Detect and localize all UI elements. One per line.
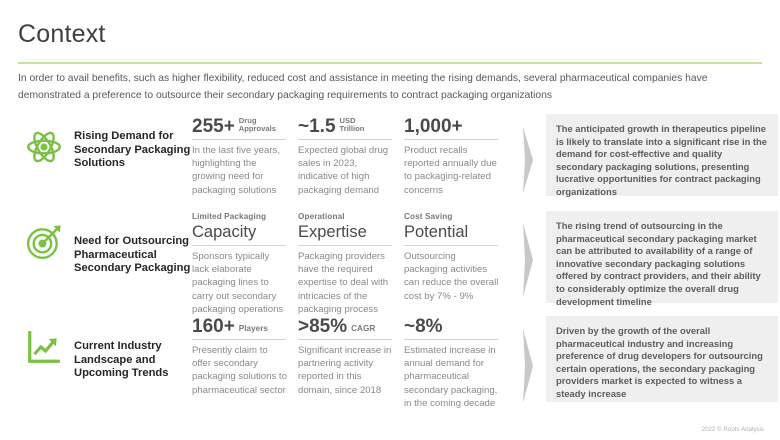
stat-divider [192, 139, 286, 140]
slide-canvas: Context In order to avail benefits, such… [0, 0, 780, 440]
content-row: Rising Demand for Secondary Packaging So… [0, 112, 780, 207]
conclusion-box: Driven by the growth of the overall phar… [546, 316, 778, 402]
stat-card: 160+ Players Presently claim to offer se… [192, 316, 298, 410]
stat-value: 255+ [192, 116, 235, 137]
stat-divider [192, 245, 286, 246]
stat-divider [192, 339, 286, 340]
row-heading: Rising Demand for Secondary Packaging So… [70, 112, 192, 171]
stat-kicker: Operational [298, 211, 394, 222]
chevron-right-icon [510, 312, 546, 420]
stats-group: 160+ Players Presently claim to offer se… [192, 312, 510, 410]
stat-card: ~1.5 USD Trillion Expected global drug s… [298, 116, 404, 197]
content-rows: Rising Demand for Secondary Packaging So… [0, 112, 780, 420]
stat-card: ~8% Estimated increase in annual demand … [404, 316, 510, 410]
stat-body: Significant increase in partnering activ… [298, 344, 394, 397]
atom-icon [18, 112, 70, 166]
row-heading: Need for Outsourcing Pharmaceutical Seco… [70, 207, 192, 276]
stat-head: 255+ Drug Approvals [192, 116, 288, 139]
stat-value: Capacity [192, 222, 256, 243]
stat-unit: Drug Approvals [239, 117, 276, 137]
stat-head: >85% CAGR [298, 316, 394, 339]
stat-divider [404, 339, 498, 340]
stats-group: 255+ Drug Approvals In the last five yea… [192, 112, 510, 197]
title-divider [18, 62, 762, 64]
stat-unit: CAGR [351, 325, 375, 337]
stat-body: Product recalls reported annually due to… [404, 144, 500, 197]
stat-unit: Players [239, 325, 268, 337]
row-heading: Current Industry Landscape and Upcoming … [70, 312, 192, 381]
stat-value: ~8% [404, 316, 443, 337]
stat-value: ~1.5 [298, 116, 336, 137]
conclusion-box: The rising trend of outsourcing in the p… [546, 211, 778, 303]
growth-chart-icon [18, 312, 70, 366]
stat-unit: USD Trillion [340, 117, 365, 137]
stat-head: Expertise [298, 222, 394, 245]
stat-value: Potential [404, 222, 468, 243]
content-row: Current Industry Landscape and Upcoming … [0, 312, 780, 420]
stat-value: >85% [298, 316, 347, 337]
stat-body: Packaging providers have the required ex… [298, 250, 394, 316]
stat-head: 160+ Players [192, 316, 288, 339]
stat-body: Estimated increase in annual demand for … [404, 344, 500, 410]
stat-body: Presently claim to offer secondary packa… [192, 344, 288, 397]
stat-card: Cost Saving Potential Outsourcing packag… [404, 211, 510, 316]
stat-head: Capacity [192, 222, 288, 245]
chevron-right-icon [510, 207, 546, 312]
stat-value: 1,000+ [404, 116, 463, 137]
stat-head: ~8% [404, 316, 500, 339]
stat-head: Potential [404, 222, 500, 245]
stat-divider [298, 245, 392, 246]
stat-kicker: Cost Saving [404, 211, 500, 222]
chevron-right-icon [510, 112, 546, 207]
stat-head: 1,000+ [404, 116, 500, 139]
conclusion-box: The anticipated growth in therapeutics p… [546, 114, 778, 196]
stat-body: Outsourcing packaging activities can red… [404, 250, 500, 303]
target-icon [18, 207, 70, 261]
stat-kicker: Limited Packaging [192, 211, 288, 222]
stat-card: Operational Expertise Packaging provider… [298, 211, 404, 316]
intro-paragraph: In order to avail benefits, such as high… [18, 70, 762, 104]
stat-card: 255+ Drug Approvals In the last five yea… [192, 116, 298, 197]
stat-head: ~1.5 USD Trillion [298, 116, 394, 139]
stat-divider [404, 245, 498, 246]
stat-divider [298, 139, 392, 140]
stat-body: In the last five years, highlighting the… [192, 144, 288, 197]
page-title: Context [18, 20, 106, 49]
stat-divider [404, 139, 498, 140]
stat-value: Expertise [298, 222, 367, 243]
stat-value: 160+ [192, 316, 235, 337]
footer-copyright: 2022 © Roots Analysis [702, 426, 764, 433]
content-row: Need for Outsourcing Pharmaceutical Seco… [0, 207, 780, 312]
stat-card: >85% CAGR Significant increase in partne… [298, 316, 404, 410]
stat-divider [298, 339, 392, 340]
stat-card: 1,000+ Product recalls reported annually… [404, 116, 510, 197]
stat-card: Limited Packaging Capacity Sponsors typi… [192, 211, 298, 316]
stat-body: Expected global drug sales in 2023, indi… [298, 144, 394, 197]
stat-body: Sponsors typically lack elaborate packag… [192, 250, 288, 316]
stats-group: Limited Packaging Capacity Sponsors typi… [192, 207, 510, 316]
